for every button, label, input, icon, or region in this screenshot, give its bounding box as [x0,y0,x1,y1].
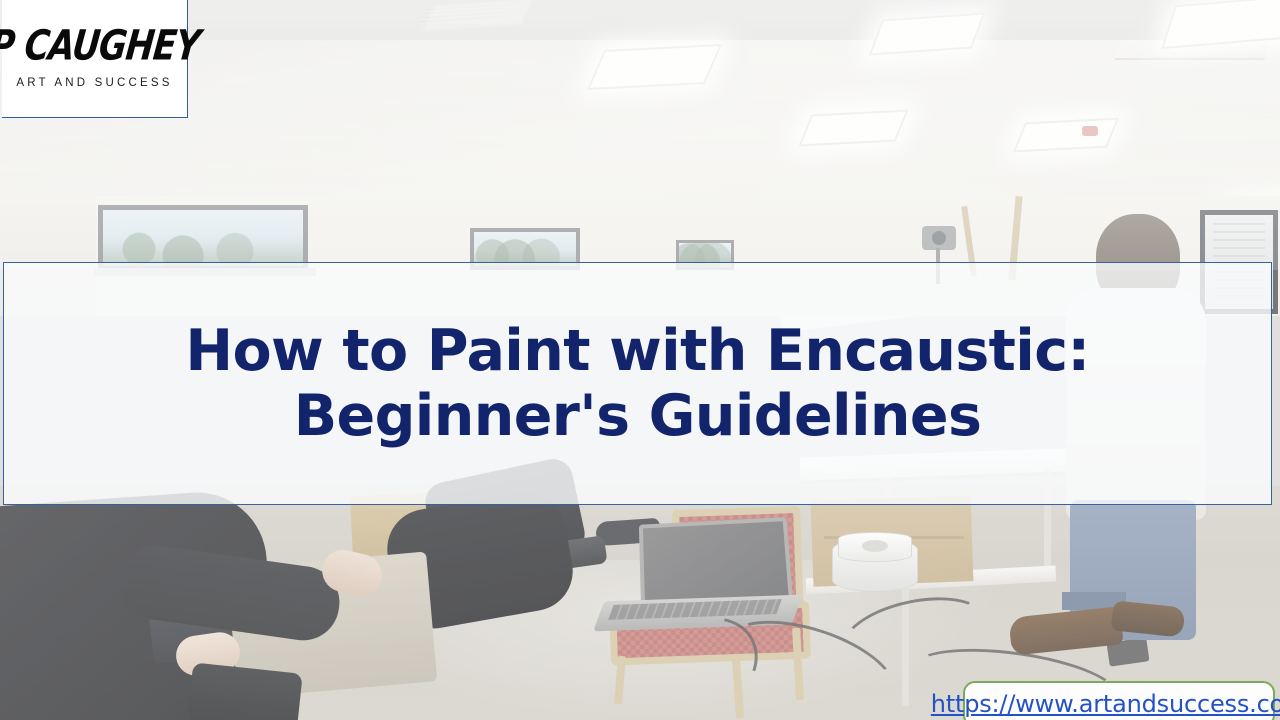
title-line-1: How to Paint with Encaustic: [185,319,1089,383]
paper-roll-core [862,540,888,552]
title-line-2: Beginner's Guidelines [185,384,1089,448]
brand-wordmark: P CAUGHEY [0,25,201,66]
brand-tagline: ART AND SUCCESS [16,77,172,89]
title-banner: How to Paint with Encaustic: Beginner's … [3,262,1272,505]
brand-logo[interactable]: P CAUGHEY ART AND SUCCESS [2,0,188,118]
slide-title: How to Paint with Encaustic: Beginner's … [145,319,1129,448]
website-url-chip[interactable]: https://www.artandsuccess.com [963,681,1275,720]
slide-canvas: EN TON P CAUGHEY ART AND SUCCESS How to … [0,0,1280,720]
website-url-link[interactable]: https://www.artandsuccess.com [931,690,1280,718]
